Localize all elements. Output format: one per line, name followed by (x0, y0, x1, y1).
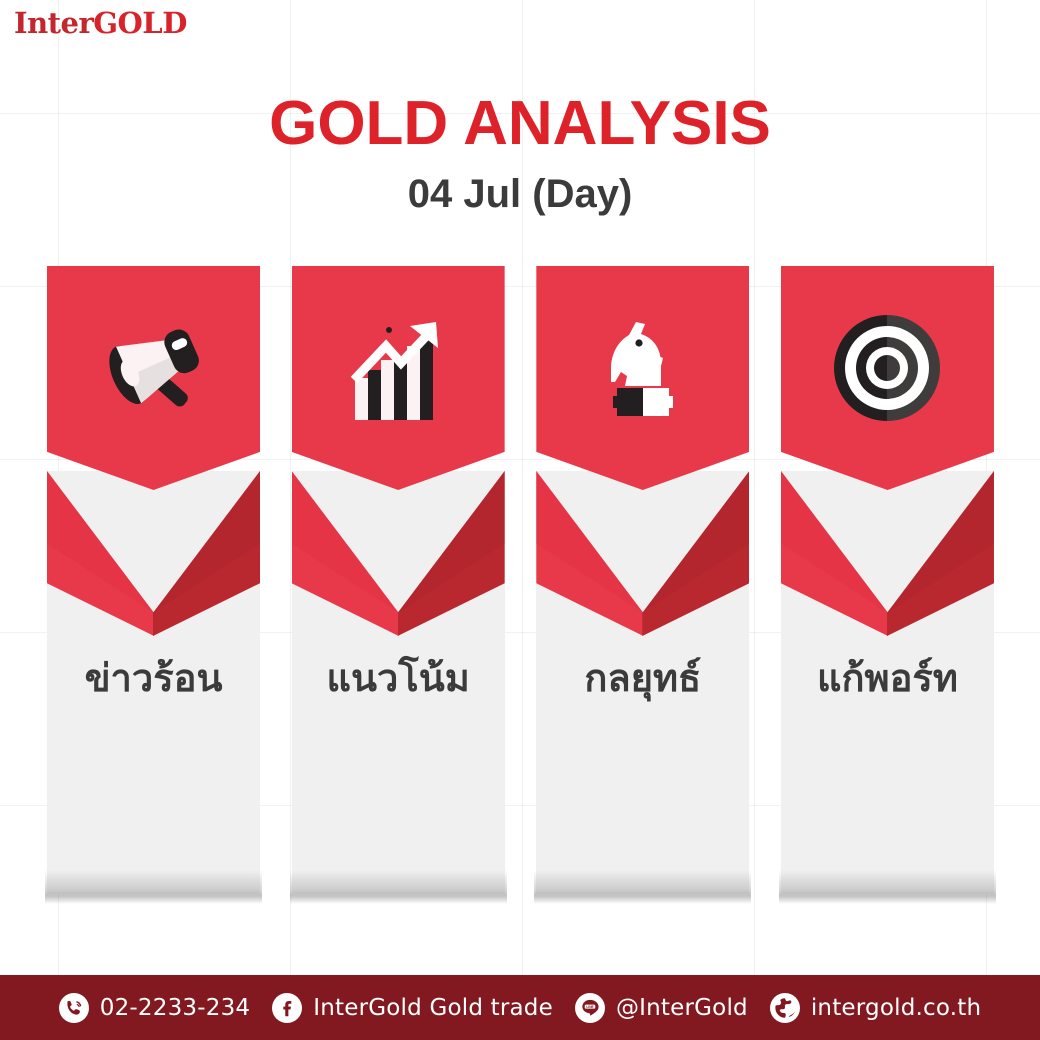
card-label: แก้พอร์ท (781, 656, 994, 702)
svg-text:LINE: LINE (586, 1004, 594, 1008)
analysis-card-strategy[interactable]: กลยุทธ์ (536, 266, 749, 894)
footer-contact-phone[interactable]: 02-2233-234 (59, 993, 251, 1023)
footer-website-text: intergold.co.th (811, 995, 981, 1021)
ribbon-fold (47, 471, 260, 636)
globe-icon (770, 993, 800, 1023)
ribbon-fold (536, 471, 749, 636)
ribbon-fold (781, 471, 994, 636)
phone-icon (59, 993, 89, 1023)
footer-line-text: @InterGold (616, 995, 748, 1021)
card-shadow (290, 870, 507, 904)
footer-contact-line[interactable]: LINE @InterGold (575, 993, 748, 1023)
analysis-card-trend[interactable]: แนวโน้ม (292, 266, 505, 894)
ribbon-banner (536, 266, 749, 490)
card-label: ข่าวร้อน (47, 656, 260, 702)
growth-chart-icon (338, 308, 458, 428)
card-shadow (779, 870, 996, 904)
footer-phone-text: 02-2233-234 (100, 995, 251, 1021)
facebook-icon (272, 993, 302, 1023)
title-block: GOLD ANALYSIS 04 Jul (Day) (0, 92, 1040, 215)
card-shadow (534, 870, 751, 904)
chess-knight-icon (583, 308, 703, 428)
ribbon-banner (47, 266, 260, 490)
logo-gold-text: GOLD (93, 6, 187, 40)
footer-facebook-text: InterGold Gold trade (313, 995, 553, 1021)
ribbon-banner (781, 266, 994, 490)
analysis-card-fix-portfolio[interactable]: แก้พอร์ท (781, 266, 994, 894)
page-title: GOLD ANALYSIS (0, 92, 1040, 156)
footer-contact-facebook[interactable]: InterGold Gold trade (272, 993, 553, 1023)
target-bullseye-icon (827, 308, 947, 428)
logo-inter-text: Inter (14, 6, 93, 40)
analysis-card-hot-news[interactable]: ข่าวร้อน (47, 266, 260, 894)
card-label: แนวโน้ม (292, 656, 505, 702)
ribbon-fold (292, 471, 505, 636)
intergold-logo: InterGOLD (14, 9, 187, 38)
footer-contact-website[interactable]: intergold.co.th (770, 993, 981, 1023)
card-label: กลยุทธ์ (536, 656, 749, 702)
card-shadow (45, 870, 262, 904)
line-icon: LINE (575, 993, 605, 1023)
page-subtitle: 04 Jul (Day) (0, 173, 1040, 215)
megaphone-icon (94, 308, 214, 428)
analysis-card-list: ข่าวร้อน (47, 266, 994, 894)
footer-contact-bar: 02-2233-234 InterGold Gold trade LINE @I… (0, 975, 1040, 1040)
ribbon-banner (292, 266, 505, 490)
